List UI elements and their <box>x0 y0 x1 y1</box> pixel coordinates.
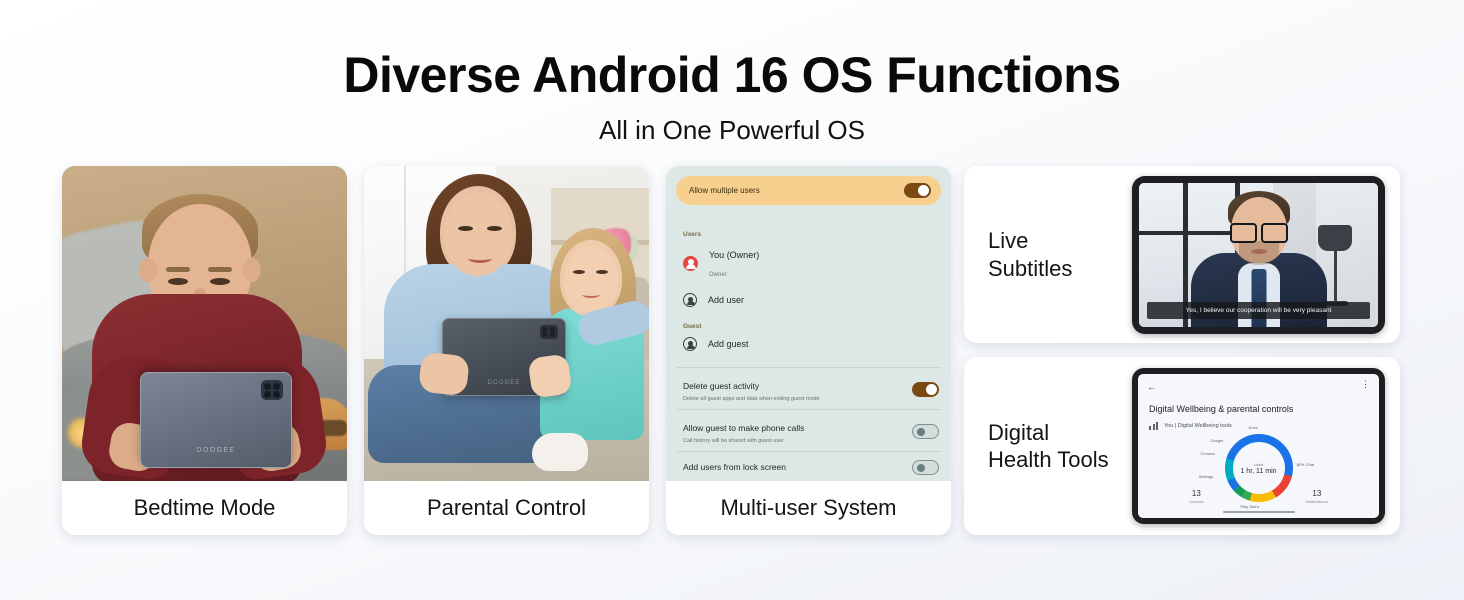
stat-caption: Notifications <box>1306 499 1328 504</box>
tablet-device: DOOGEE <box>140 372 292 468</box>
donut-center: Used 1 hr, 11 min <box>1233 442 1285 494</box>
setting-row-delete-guest-activity[interactable]: Delete guest activity Delete all guest a… <box>676 367 941 409</box>
tablet-brand: DOOGEE <box>141 447 291 454</box>
wellbeing-subtitle: You | Digital Wellbeing tools <box>1164 423 1232 429</box>
digital-health-label-line2: Health Tools <box>988 447 1109 472</box>
card-live-subtitles[interactable]: Live Subtitles <box>964 166 1400 343</box>
live-subtitles-label: Live Subtitles <box>964 227 1132 282</box>
guest-section-header: Guest <box>683 323 941 330</box>
donut-label-google: Google <box>1211 438 1224 443</box>
page-subtitle: All in One Powerful OS <box>0 115 1464 146</box>
mother-eye-left <box>458 226 473 231</box>
donut-label-apk-chat: APK Chat <box>1297 462 1315 467</box>
multi-user-settings-screen: Allow multiple users Users You (Owner) O… <box>666 166 951 481</box>
allow-multiple-users-row[interactable]: Allow multiple users <box>676 176 941 205</box>
camera-module-icon <box>261 380 283 400</box>
setting-row-guest-phone-calls[interactable]: Allow guest to make phone calls Call his… <box>676 409 941 451</box>
floor-lamp-pole <box>1334 249 1337 303</box>
boy-eye-left <box>168 278 188 285</box>
add-guest-row[interactable]: Add guest <box>683 337 941 351</box>
setting-row-add-users-lock-screen[interactable]: Add users from lock screen <box>676 451 941 481</box>
girl-sock <box>532 433 588 471</box>
mother-hand <box>418 352 470 397</box>
subtitle-text: Yes, I believe our cooperation will be v… <box>1186 307 1332 314</box>
mother-face <box>444 192 512 276</box>
card-bedtime-mode[interactable]: DOOGEE Bedtime Mode <box>62 166 347 535</box>
video-call-screen: Yes, I believe our cooperation will be v… <box>1139 183 1378 327</box>
card-caption: Bedtime Mode <box>62 481 347 535</box>
wellbeing-stats-row: 13 Unlocks 13 Notifications <box>1138 489 1379 504</box>
screen-title: Digital Wellbeing & parental controls <box>1149 404 1293 414</box>
girl-hand <box>527 353 572 398</box>
allow-multiple-users-label: Allow multiple users <box>689 186 760 195</box>
navigation-pill[interactable] <box>1223 511 1295 514</box>
stat-unlocks: 13 Unlocks <box>1189 489 1203 504</box>
right-card-column: Live Subtitles <box>964 166 1400 535</box>
camera-module-icon <box>540 325 558 339</box>
overflow-menu-icon[interactable]: ⋮ <box>1361 380 1370 389</box>
setting-toggle[interactable] <box>912 424 939 439</box>
donut-label-chrome: Chrome <box>1201 451 1215 456</box>
tablet-frame: ← ⋮ Digital Wellbeing & parental control… <box>1132 368 1385 524</box>
card-caption: Parental Control <box>364 481 649 535</box>
feature-card-row: DOOGEE Bedtime Mode <box>62 166 951 535</box>
donut-label-play-store: Play Store <box>1241 504 1259 509</box>
owner-role: Owner <box>709 272 727 278</box>
stat-notifications: 13 Notifications <box>1306 489 1328 504</box>
add-guest-label: Add guest <box>708 339 749 349</box>
live-subtitles-label-line2: Subtitles <box>988 256 1072 281</box>
stat-value: 13 <box>1189 489 1203 498</box>
add-user-row[interactable]: Add user <box>683 293 941 307</box>
boy-eye-right <box>210 278 230 285</box>
setting-toggle[interactable] <box>912 382 939 397</box>
wellbeing-subtitle-row: You | Digital Wellbeing tools <box>1149 422 1232 430</box>
girl-smile <box>582 291 600 298</box>
stat-value: 13 <box>1306 489 1328 498</box>
page-header: Diverse Android 16 OS Functions All in O… <box>0 0 1464 146</box>
tablet-frame: Yes, I believe our cooperation will be v… <box>1132 176 1385 334</box>
man-mouth <box>1251 249 1267 254</box>
users-section-header: Users <box>683 231 941 238</box>
allow-multiple-users-toggle[interactable] <box>904 183 931 198</box>
stat-caption: Unlocks <box>1189 499 1203 504</box>
floor-lamp-shade <box>1318 225 1352 251</box>
digital-wellbeing-screen: ← ⋮ Digital Wellbeing & parental control… <box>1138 374 1379 518</box>
setting-description: Call history will be shared with guest u… <box>683 438 804 444</box>
card-parental-control[interactable]: DOOGEE Parental Control <box>364 166 649 535</box>
mother-eye-right <box>487 226 502 231</box>
card-digital-health-tools[interactable]: Digital Health Tools ← ⋮ Digital Wellbei… <box>964 357 1400 535</box>
mother-smile <box>468 254 492 263</box>
setting-title: Allow guest to make phone calls <box>683 423 804 433</box>
subtitle-bar: Yes, I believe our cooperation will be v… <box>1147 302 1370 319</box>
donut-center-caption: Used <box>1254 462 1263 467</box>
girl-eye-right <box>596 270 608 274</box>
setting-toggle[interactable] <box>912 460 939 475</box>
user-row-owner[interactable]: You (Owner) Owner <box>683 245 941 281</box>
donut-label-drive: Drive <box>1249 425 1258 430</box>
glasses-icon <box>1230 223 1288 239</box>
boy-brow-left <box>166 267 190 272</box>
add-user-label: Add user <box>708 295 744 305</box>
bar-chart-icon <box>1149 422 1158 430</box>
boy-brow-right <box>208 267 232 272</box>
live-subtitles-label-line1: Live <box>988 228 1028 253</box>
boy-ear-left <box>139 258 157 282</box>
card-caption: Multi-user System <box>666 481 951 535</box>
page-title: Diverse Android 16 OS Functions <box>0 48 1464 102</box>
back-arrow-icon[interactable]: ← <box>1147 382 1156 392</box>
setting-title: Add users from lock screen <box>683 462 786 473</box>
donut-label-settings: Settings <box>1199 474 1213 479</box>
setting-description: Delete all guest apps and data when exit… <box>683 396 820 402</box>
setting-title: Delete guest activity <box>683 381 759 391</box>
avatar <box>683 256 698 271</box>
owner-name: You (Owner) <box>709 250 759 260</box>
card-multi-user-system[interactable]: Allow multiple users Users You (Owner) O… <box>666 166 951 535</box>
digital-health-label-line1: Digital <box>988 420 1049 445</box>
digital-health-label: Digital Health Tools <box>964 419 1132 474</box>
boy-ear-right <box>243 258 261 282</box>
parental-photo: DOOGEE <box>364 166 649 481</box>
girl-eye-left <box>573 270 585 274</box>
girl-face <box>564 246 618 314</box>
add-guest-icon <box>683 337 697 351</box>
add-user-icon <box>683 293 697 307</box>
donut-center-value: 1 hr, 11 min <box>1240 468 1276 475</box>
bedtime-photo: DOOGEE <box>62 166 347 481</box>
